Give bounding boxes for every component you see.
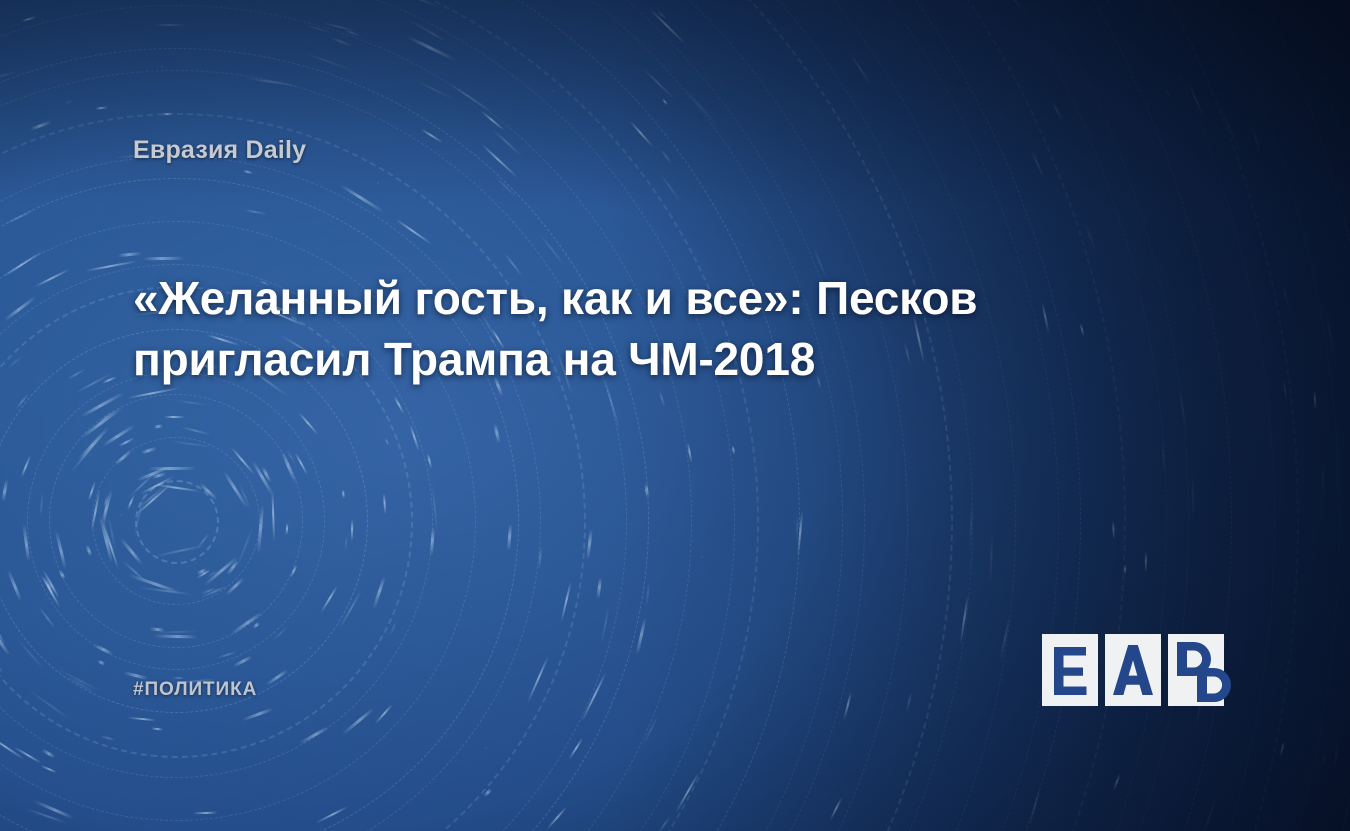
- logo-tile-a: [1105, 634, 1161, 706]
- logo-tile-e: [1042, 634, 1098, 706]
- ead-logo: [1042, 634, 1224, 706]
- news-share-card: Евразия Daily «Желанный гость, как и все…: [0, 0, 1350, 831]
- category-hashtag: #ПОЛИТИКА: [133, 679, 257, 701]
- logo-letter-d-icon: [1168, 634, 1224, 706]
- logo-tile-d: [1168, 634, 1224, 706]
- logo-letter-e-icon: [1051, 645, 1089, 695]
- card-content: Евразия Daily «Желанный гость, как и все…: [0, 0, 1350, 831]
- brand-wordmark: Евразия Daily: [133, 136, 306, 165]
- article-headline: «Желанный гость, как и все»: Песков приг…: [133, 268, 1173, 390]
- logo-letter-a-icon: [1113, 645, 1153, 695]
